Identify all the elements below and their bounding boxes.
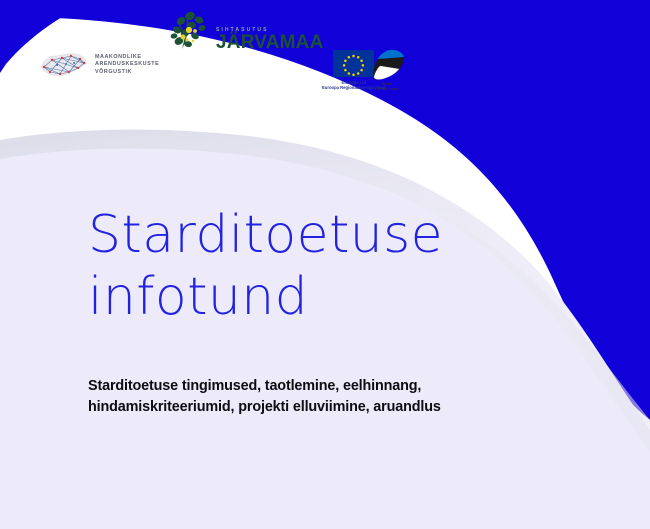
jarvamaa-wordmark-block: SIHTASUTUS JÄRVAMAA (216, 8, 324, 54)
mak-line-1: MAAKONDLIKE (95, 54, 159, 62)
slide-title: Starditoetuse infotund (88, 204, 568, 328)
logo-eesti-tuleviku-heaks: Eesti tuleviku heaks (368, 48, 406, 92)
jarvamaa-wordmark: JÄRVAMAA (216, 34, 324, 52)
estonia-network-map-icon (38, 48, 88, 82)
estonia-caption-line-2: tuleviku heaks (375, 86, 400, 91)
logo-maakondlike-arenduskeskuste-vorgustik: MAAKONDLIKE ARENDUSKESKUSTE VÕRGUSTIK (38, 48, 159, 82)
slide-content: Starditoetuse infotund Starditoetuse tin… (88, 204, 568, 418)
jarvamaa-foliage-icon (168, 9, 214, 53)
logo-bar: MAAKONDLIKE ARENDUSKESKUSTE VÕRGUSTIK (0, 0, 650, 105)
estonia-logo-caption: Eesti tuleviku heaks (375, 82, 400, 92)
mak-logo-text: MAAKONDLIKE ARENDUSKESKUSTE VÕRGUSTIK (95, 54, 159, 77)
estonia-flag-icon (368, 48, 406, 80)
mak-line-3: VÕRGUSTIK (95, 69, 159, 77)
slide-subtitle: Starditoetuse tingimused, taotlemine, ee… (88, 376, 568, 418)
presentation-slide: MAAKONDLIKE ARENDUSKESKUSTE VÕRGUSTIK (0, 0, 650, 529)
mak-line-2: ARENDUSKESKUSTE (95, 61, 159, 69)
logo-sihtasutus-jarvamaa: SIHTASUTUS JÄRVAMAA (168, 8, 324, 54)
